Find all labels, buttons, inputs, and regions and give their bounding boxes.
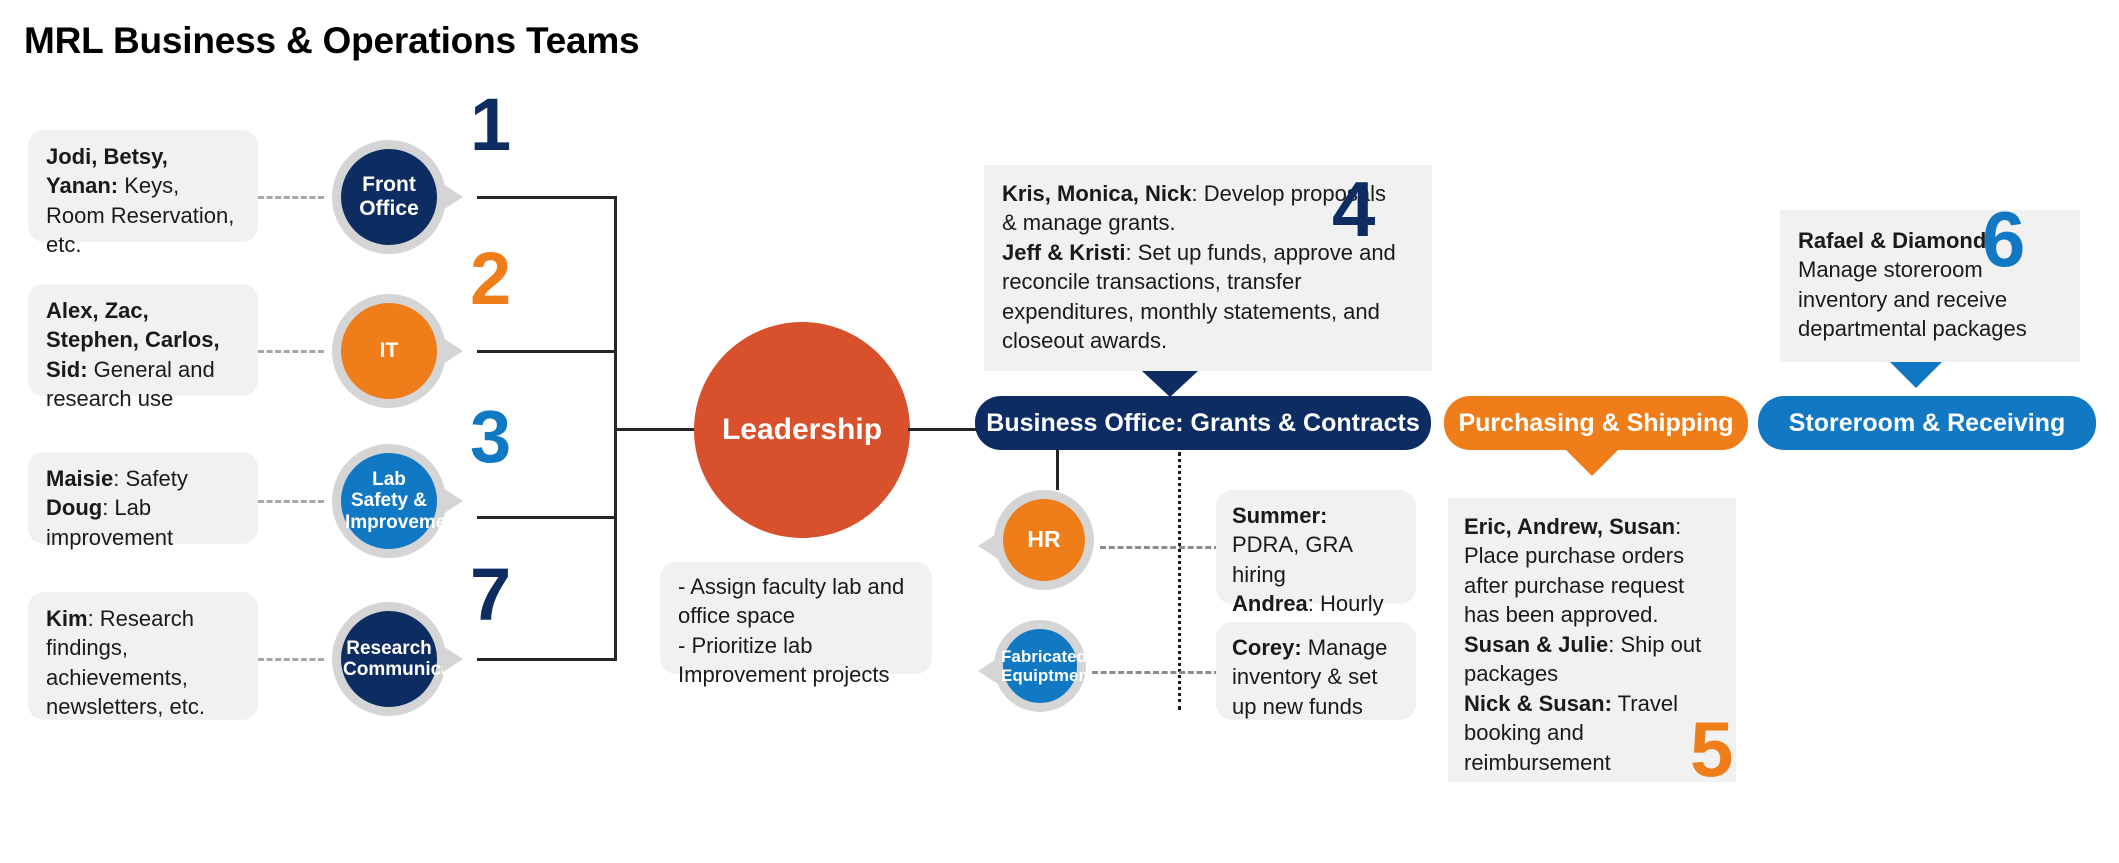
bracket-stub-1 xyxy=(477,196,617,199)
purchasing-note-names-2: Susan & Julie xyxy=(1464,632,1608,657)
step-number-1: 1 xyxy=(470,88,511,162)
step-number-6: 6 xyxy=(1982,200,2025,278)
fab-equip-note-name: Corey: xyxy=(1232,635,1302,660)
step-number-5: 5 xyxy=(1690,710,1733,788)
pill-business-office-label: Business Office: Grants & Contracts xyxy=(986,409,1419,438)
step-number-7: 7 xyxy=(470,558,511,632)
lab-safety-note-name-1: Maisie xyxy=(46,466,113,491)
business-office-to-hr-line xyxy=(1056,450,1059,490)
leadership-note-line-1: - Assign faculty lab and office space xyxy=(678,574,904,628)
circle-it-label: IT xyxy=(380,339,399,363)
hr-note-name-2: Andrea xyxy=(1232,591,1308,616)
leadership-note-line-2: - Prioritize lab Improvement projects xyxy=(678,633,890,687)
hr-note-desc-1: PDRA, GRA hiring xyxy=(1232,532,1352,586)
step-number-3: 3 xyxy=(470,400,511,474)
fab-equip-note: Corey: Manage inventory & set up new fun… xyxy=(1216,622,1416,720)
diagram-canvas: MRL Business & Operations Teams Jodi, Be… xyxy=(0,0,2119,863)
step-number-2: 2 xyxy=(470,242,511,316)
circle-hr[interactable]: HR xyxy=(994,490,1094,590)
bracket-stub-2 xyxy=(477,350,617,353)
circle-research-comm[interactable]: Research Communication xyxy=(332,602,446,716)
leader-dash-it xyxy=(258,350,324,353)
circle-research-comm-label: Research Communication xyxy=(343,638,435,681)
fab-equip-note-leader xyxy=(1092,671,1220,674)
circle-lab-safety-tail-icon xyxy=(443,488,463,514)
hr-note-leader xyxy=(1100,546,1220,549)
front-office-note: Jodi, Betsy, Yanan: Keys, Room Reservati… xyxy=(28,130,258,242)
purchasing-note-names-3: Nick & Susan: xyxy=(1464,691,1612,716)
storeroom-note-names: Rafael & Diamond: xyxy=(1798,228,1994,253)
pill-storeroom[interactable]: Storeroom & Receiving xyxy=(1758,396,2096,450)
pill-purchasing[interactable]: Purchasing & Shipping xyxy=(1444,396,1748,450)
it-note: Alex, Zac, Stephen, Carlos, Sid: General… xyxy=(28,284,258,396)
storeroom-note-notch-icon xyxy=(1890,362,1942,388)
circle-it-tail-icon xyxy=(443,338,463,364)
lab-safety-note: Maisie: Safety Doug: Lab improvement xyxy=(28,452,258,544)
leader-dash-front-office xyxy=(258,196,324,199)
bracket-stub-7 xyxy=(477,658,617,661)
circle-hr-label: HR xyxy=(1027,527,1060,553)
bracket-to-leadership xyxy=(614,428,706,431)
research-comm-note: Kim: Research findings, achievements, ne… xyxy=(28,592,258,720)
business-office-note-names-2: Jeff & Kristi xyxy=(1002,240,1125,265)
circle-fab-equip-label: Fabricated Equiptment xyxy=(1001,647,1079,685)
leadership-note: - Assign faculty lab and office space - … xyxy=(660,562,932,674)
pill-business-office[interactable]: Business Office: Grants & Contracts xyxy=(975,396,1431,450)
circle-leadership[interactable]: Leadership xyxy=(694,322,910,538)
lab-safety-note-name-2: Doug xyxy=(46,495,102,520)
circle-lab-safety-label: Lab Safety & Improvement xyxy=(345,469,433,533)
purchasing-note-names-1: Eric, Andrew, Susan xyxy=(1464,514,1675,539)
circle-leadership-label: Leadership xyxy=(722,413,882,447)
circle-lab-safety[interactable]: Lab Safety & Improvement xyxy=(332,444,446,558)
pill-storeroom-label: Storeroom & Receiving xyxy=(1789,409,2065,438)
circle-front-office-label: Front Office xyxy=(341,173,437,220)
storeroom-note: Rafael & Diamond: Manage storeroom inven… xyxy=(1780,210,2080,362)
lab-safety-note-desc-1: : Safety xyxy=(113,466,188,491)
circle-research-comm-tail-icon xyxy=(443,646,463,672)
circle-fab-equip[interactable]: Fabricated Equiptment xyxy=(994,620,1086,712)
business-office-note-notch-icon xyxy=(1142,371,1198,397)
hr-note-name-1: Summer: xyxy=(1232,503,1327,528)
circle-front-office[interactable]: Front Office xyxy=(332,140,446,254)
leader-dash-lab-safety xyxy=(258,500,324,503)
research-comm-note-name: Kim xyxy=(46,606,88,631)
hr-note: Summer: PDRA, GRA hiring Andrea: Hourly … xyxy=(1216,490,1416,604)
circle-it[interactable]: IT xyxy=(332,294,446,408)
purchasing-note-notch-icon xyxy=(1566,450,1618,476)
business-office-note-names-1: Kris, Monica, Nick xyxy=(1002,181,1192,206)
bracket-stub-3 xyxy=(477,516,617,519)
circle-front-office-tail-icon xyxy=(443,184,463,210)
page-title: MRL Business & Operations Teams xyxy=(24,20,639,62)
pill-purchasing-label: Purchasing & Shipping xyxy=(1458,409,1733,438)
leader-dash-research-comm xyxy=(258,658,324,661)
step-number-4: 4 xyxy=(1332,170,1375,248)
